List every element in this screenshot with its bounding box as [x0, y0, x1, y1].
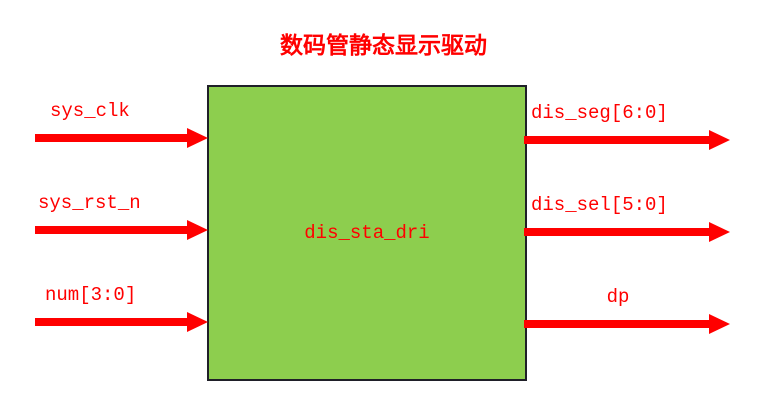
input-label-num: num[3:0] — [45, 284, 136, 306]
output-label-dis-sel: dis_sel[5:0] — [531, 194, 668, 216]
arrow-head-icon — [187, 312, 208, 332]
arrow-line — [35, 134, 190, 142]
module-name-label: dis_sta_dri — [207, 222, 527, 244]
arrow-head-icon — [187, 128, 208, 148]
diagram-title: 数码管静态显示驱动 — [0, 32, 767, 60]
output-label-dis-seg: dis_seg[6:0] — [531, 102, 668, 124]
module-diagram-canvas: 数码管静态显示驱动 dis_sta_dri sys_clk sys_rst_n … — [0, 0, 767, 410]
output-label-dp: dp — [524, 286, 712, 308]
arrow-head-icon — [709, 130, 730, 150]
arrow-line — [524, 228, 712, 236]
arrow-head-icon — [187, 220, 208, 240]
arrow-head-icon — [709, 314, 730, 334]
input-label-sys-rst-n: sys_rst_n — [38, 192, 141, 214]
input-label-sys-clk: sys_clk — [50, 100, 130, 122]
arrow-line — [524, 136, 712, 144]
arrow-head-icon — [709, 222, 730, 242]
arrow-line — [35, 226, 190, 234]
arrow-line — [524, 320, 712, 328]
arrow-line — [35, 318, 190, 326]
